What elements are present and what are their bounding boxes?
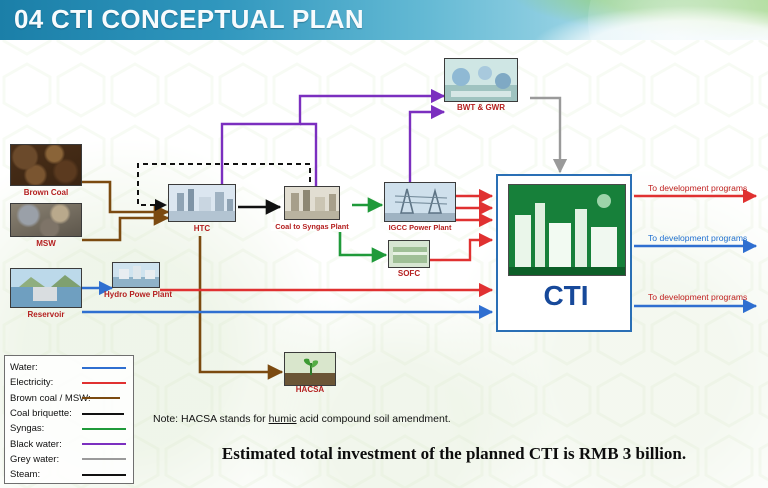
legend-item: Electricity: — [10, 375, 129, 390]
hacsa-note-underlined: humic — [269, 413, 297, 425]
node-msw-label: MSW — [8, 239, 84, 248]
legend-item: Syngas: — [10, 421, 129, 436]
water-treatment-illustration — [445, 59, 518, 102]
node-igcc-power-plant[interactable] — [384, 182, 456, 222]
legend-item: Steam: — [10, 467, 129, 482]
legend: Water: Electricity: Brown coal / MSW: Co… — [4, 355, 134, 484]
node-coal-to-syngas-plant[interactable] — [284, 186, 340, 220]
legend-item-swatch — [82, 397, 120, 399]
node-reservoir[interactable] — [10, 268, 82, 308]
legend-item-label: Water: — [10, 362, 82, 373]
node-igcc-power-plant-label: IGCC Power Plant — [378, 223, 462, 232]
legend-item-swatch — [82, 458, 126, 460]
node-hydro-power-plant-label: Hydro Powe Plant — [100, 290, 176, 299]
legend-item-swatch — [82, 474, 126, 476]
legend-item: Coal briquette: — [10, 406, 129, 421]
seedling-soil-illustration — [285, 353, 336, 386]
node-msw[interactable] — [10, 203, 82, 237]
legend-item-label: Black water: — [10, 439, 82, 450]
legend-item: Water: — [10, 360, 129, 375]
node-sofc-label: SOFC — [386, 269, 432, 278]
legend-item-swatch — [82, 367, 126, 369]
hacsa-note-suffix: acid compound soil amendment. — [297, 413, 451, 425]
cti-facility-illustration — [508, 184, 626, 276]
node-brown-coal[interactable] — [10, 144, 82, 186]
hydro-plant-illustration — [113, 263, 160, 288]
output-label-2: To development programs — [648, 233, 747, 243]
node-bwt-gwr[interactable] — [444, 58, 518, 102]
legend-item: Brown coal / MSW: — [10, 391, 129, 406]
node-hacsa[interactable] — [284, 352, 336, 386]
node-htc[interactable] — [168, 184, 236, 222]
legend-item-label: Coal briquette: — [10, 408, 82, 419]
legend-item-label: Steam: — [10, 469, 82, 480]
node-sofc[interactable] — [388, 240, 430, 268]
legend-item-label: Brown coal / MSW: — [10, 393, 82, 404]
node-brown-coal-label: Brown Coal — [8, 188, 84, 197]
output-label-1: To development programs — [648, 183, 747, 193]
legend-item-swatch — [82, 382, 126, 384]
sofc-illustration — [389, 241, 430, 268]
legend-item-swatch — [82, 413, 124, 415]
syngas-plant-illustration — [285, 187, 340, 220]
slide-canvas: 04 CTI CONCEPTUAL PLAN — [0, 0, 768, 488]
node-cti-label: CTI — [498, 280, 634, 312]
node-hacsa-label: HACSA — [284, 385, 336, 394]
legend-item-label: Syngas: — [10, 423, 82, 434]
node-coal-to-syngas-plant-label: Coal to Syngas Plant — [271, 222, 353, 231]
investment-statement: Estimated total investment of the planne… — [148, 444, 760, 464]
legend-item: Black water: — [10, 436, 129, 451]
dam-illustration — [11, 269, 82, 308]
legend-item-swatch — [82, 443, 126, 445]
legend-item-label: Electricity: — [10, 377, 82, 388]
node-hydro-power-plant[interactable] — [112, 262, 160, 288]
legend-item: Grey water: — [10, 452, 129, 467]
node-htc-label: HTC — [168, 224, 236, 233]
hacsa-note-prefix: Note: HACSA stands for — [153, 413, 269, 425]
node-bwt-gwr-label: BWT & GWR — [444, 103, 518, 112]
htc-plant-illustration — [169, 185, 236, 222]
hacsa-note: Note: HACSA stands for humic acid compou… — [153, 413, 451, 425]
node-cti[interactable]: CTI — [496, 174, 632, 332]
legend-item-label: Grey water: — [10, 454, 82, 465]
power-pylon-illustration — [385, 183, 456, 222]
node-reservoir-label: Reservoir — [8, 310, 84, 319]
output-label-3: To development programs — [648, 292, 747, 302]
legend-item-swatch — [82, 428, 126, 430]
